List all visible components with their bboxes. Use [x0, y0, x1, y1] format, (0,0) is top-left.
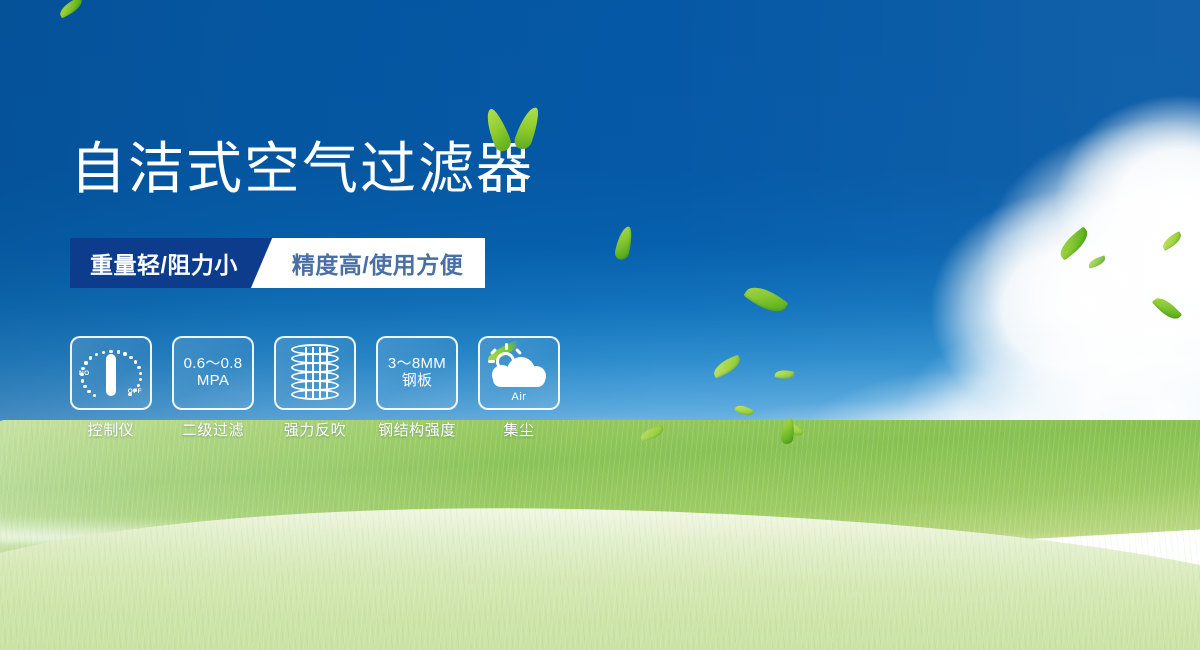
- subtitle-left-segment: 重量轻/阻力小: [70, 238, 264, 288]
- feature-item-blowback[interactable]: 强力反吹: [274, 336, 356, 440]
- filter-cartridge-icon: [291, 344, 339, 402]
- feature-label-two-stage-filter: 二级过滤: [182, 419, 244, 440]
- feature-item-dust-collection[interactable]: Air 集尘: [478, 336, 560, 440]
- page-title: 自洁式空气过滤器: [70, 140, 534, 199]
- grass-field: [0, 420, 1200, 650]
- feature-label-controller: 控制仪: [88, 419, 135, 440]
- pressure-value: 0.6～0.8: [184, 355, 243, 372]
- subtitle-right-segment: 精度高/使用方便: [264, 238, 485, 288]
- gauge-label-no: NO: [79, 370, 90, 377]
- feature-label-blowback: 强力反吹: [284, 419, 346, 440]
- sprout-leaf-left-icon: [481, 106, 513, 153]
- grass-texture-overlay: [0, 420, 1200, 650]
- feature-box-dust-collection: Air: [478, 336, 560, 410]
- steel-plate-label: 钢板: [388, 373, 446, 390]
- feature-box-two-stage-filter: 0.6～0.8 MPA: [172, 336, 254, 410]
- subtitle-bar: 重量轻/阻力小 精度高/使用方便: [70, 238, 485, 288]
- feature-item-controller[interactable]: NO OFF 控制仪: [70, 336, 152, 440]
- feature-item-two-stage-filter[interactable]: 0.6～0.8 MPA 二级过滤: [172, 336, 254, 440]
- steel-thickness-value: 3～8MM: [388, 355, 446, 372]
- feature-box-controller: NO OFF: [70, 336, 152, 410]
- sprout-leaf-right-icon: [512, 104, 542, 151]
- steel-plate-text-icon: 3～8MM 钢板: [388, 356, 446, 390]
- title-block: 自洁式空气过滤器: [70, 140, 534, 199]
- feature-list: NO OFF 控制仪 0.6～0.8 MPA 二级过滤: [70, 336, 560, 440]
- feature-label-dust-collection: 集尘: [503, 419, 534, 440]
- feature-box-blowback: [274, 336, 356, 410]
- feature-box-steel-strength: 3～8MM 钢板: [376, 336, 458, 410]
- cloud-base-icon: [493, 372, 545, 387]
- product-hero-banner: 自洁式空气过滤器 重量轻/阻力小 精度高/使用方便: [0, 0, 1200, 650]
- sprout-leaves-icon: [480, 104, 550, 152]
- gauge-label-off: OFF: [128, 388, 142, 395]
- gauge-dial-icon: NO OFF: [79, 344, 143, 402]
- pressure-unit: MPA: [184, 373, 243, 390]
- feature-label-steel-strength: 钢结构强度: [378, 419, 456, 440]
- cloud-sun-air-icon: Air: [488, 345, 550, 401]
- air-label: Air: [488, 391, 550, 403]
- gauge-needle-icon: [106, 354, 116, 396]
- pressure-text-icon: 0.6～0.8 MPA: [184, 356, 243, 390]
- feature-item-steel-strength[interactable]: 3～8MM 钢板 钢结构强度: [376, 336, 458, 440]
